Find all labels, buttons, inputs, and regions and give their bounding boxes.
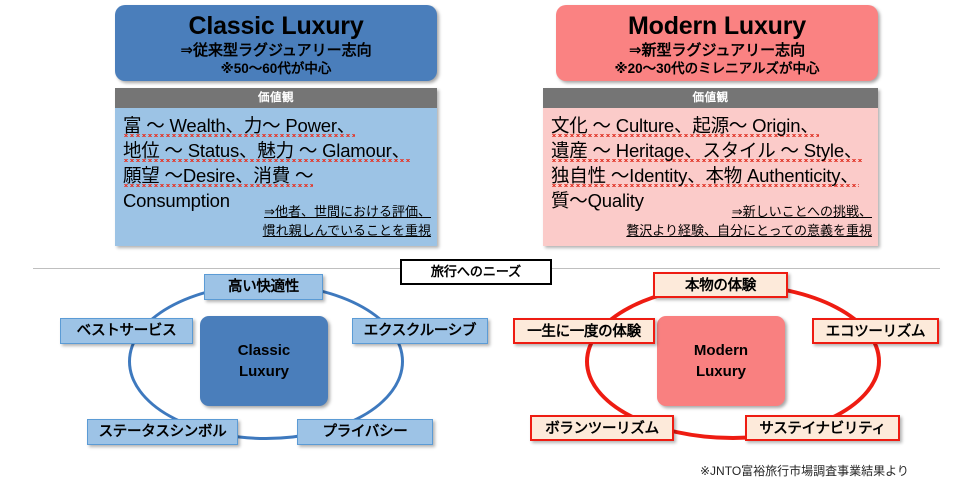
modern-values-note-line-2: 贅沢より経験、自分にとっての意義を重視 <box>626 223 872 238</box>
classic-values-panel: 価値観 富 〜 Wealth、力〜 Power、 地位 〜 Status、魅力 … <box>115 88 437 246</box>
source-footnote: ※JNTO富裕旅行市場調査事業結果より <box>700 463 909 479</box>
modern-values-bar-label: 価値観 <box>543 88 878 108</box>
classic-values-note-line-1: ⇒他者、世間における評価、 <box>264 204 431 219</box>
classic-values-line-1: 富 〜 Wealth、力〜 Power、 <box>123 115 355 138</box>
slide-canvas: Classic Luxury ⇒従来型ラグジュアリー志向 ※50〜60代が中心 … <box>0 0 973 503</box>
classic-luxury-subtitle-2: ※50〜60代が中心 <box>115 60 437 78</box>
modern-luxury-subtitle-1: ⇒新型ラグジュアリー志向 <box>556 41 878 60</box>
modern-values-note: ⇒新しいことへの挑戦、 贅沢より経験、自分にとっての意義を重視 <box>626 202 872 240</box>
classic-values-body: 富 〜 Wealth、力〜 Power、 地位 〜 Status、魅力 〜 Gl… <box>115 108 437 246</box>
classic-values-terms: 富 〜 Wealth、力〜 Power、 地位 〜 Status、魅力 〜 Gl… <box>123 113 429 213</box>
classic-node-privacy[interactable]: プライバシー <box>297 419 433 445</box>
modern-values-body: 文化 〜 Culture、起源〜 Origin、 遺産 〜 Heritage、ス… <box>543 108 878 246</box>
modern-values-note-line-1: ⇒新しいことへの挑戦、 <box>732 204 872 219</box>
modern-values-line-1: 文化 〜 Culture、起源〜 Origin、 <box>551 115 819 138</box>
classic-values-note-line-2: 慣れ親しんでいることを重視 <box>263 223 431 238</box>
modern-node-sustainability[interactable]: サステイナビリティ <box>745 415 900 441</box>
classic-luxury-core: Classic Luxury <box>200 316 328 406</box>
modern-node-voluntourism[interactable]: ボランツーリズム <box>530 415 674 441</box>
modern-values-line-2: 遺産 〜 Heritage、スタイル 〜 Style、 <box>551 140 862 163</box>
classic-node-exclusive[interactable]: エクスクルーシブ <box>352 318 488 344</box>
travel-needs-label: 旅行へのニーズ <box>400 259 552 285</box>
classic-luxury-title: Classic Luxury <box>115 11 437 41</box>
classic-node-status-symbol[interactable]: ステータスシンボル <box>87 419 238 445</box>
modern-values-line-3: 独自性 〜Identity、本物 Authenticity、 <box>551 165 859 188</box>
modern-values-panel: 価値観 文化 〜 Culture、起源〜 Origin、 遺産 〜 Herita… <box>543 88 878 246</box>
classic-core-line-1: Classic <box>238 340 291 361</box>
classic-node-comfort[interactable]: 高い快適性 <box>204 274 323 300</box>
modern-node-once-in-a-lifetime[interactable]: 一生に一度の体験 <box>513 318 655 344</box>
modern-node-authentic-experience[interactable]: 本物の体験 <box>653 272 788 298</box>
modern-luxury-subtitle-2: ※20〜30代のミレニアルズが中心 <box>556 60 878 78</box>
classic-values-line-2: 地位 〜 Status、魅力 〜 Glamour、 <box>123 140 410 163</box>
classic-values-note: ⇒他者、世間における評価、 慣れ親しんでいることを重視 <box>263 202 431 240</box>
modern-core-line-2: Luxury <box>694 361 748 382</box>
classic-luxury-subtitle-1: ⇒従来型ラグジュアリー志向 <box>115 41 437 60</box>
classic-values-line-3: 願望 〜Desire、消費 〜 <box>123 165 313 188</box>
modern-luxury-core: Modern Luxury <box>657 316 785 406</box>
classic-node-best-service[interactable]: ベストサービス <box>60 318 193 344</box>
modern-luxury-header: Modern Luxury ⇒新型ラグジュアリー志向 ※20〜30代のミレニアル… <box>556 5 878 81</box>
classic-core-line-2: Luxury <box>238 361 291 382</box>
modern-values-terms: 文化 〜 Culture、起源〜 Origin、 遺産 〜 Heritage、ス… <box>551 113 870 213</box>
modern-node-ecotourism[interactable]: エコツーリズム <box>812 318 939 344</box>
classic-values-bar-label: 価値観 <box>115 88 437 108</box>
modern-luxury-title: Modern Luxury <box>556 11 878 41</box>
modern-core-line-1: Modern <box>694 340 748 361</box>
classic-values-line-4: Consumption <box>123 190 230 211</box>
classic-luxury-header: Classic Luxury ⇒従来型ラグジュアリー志向 ※50〜60代が中心 <box>115 5 437 81</box>
